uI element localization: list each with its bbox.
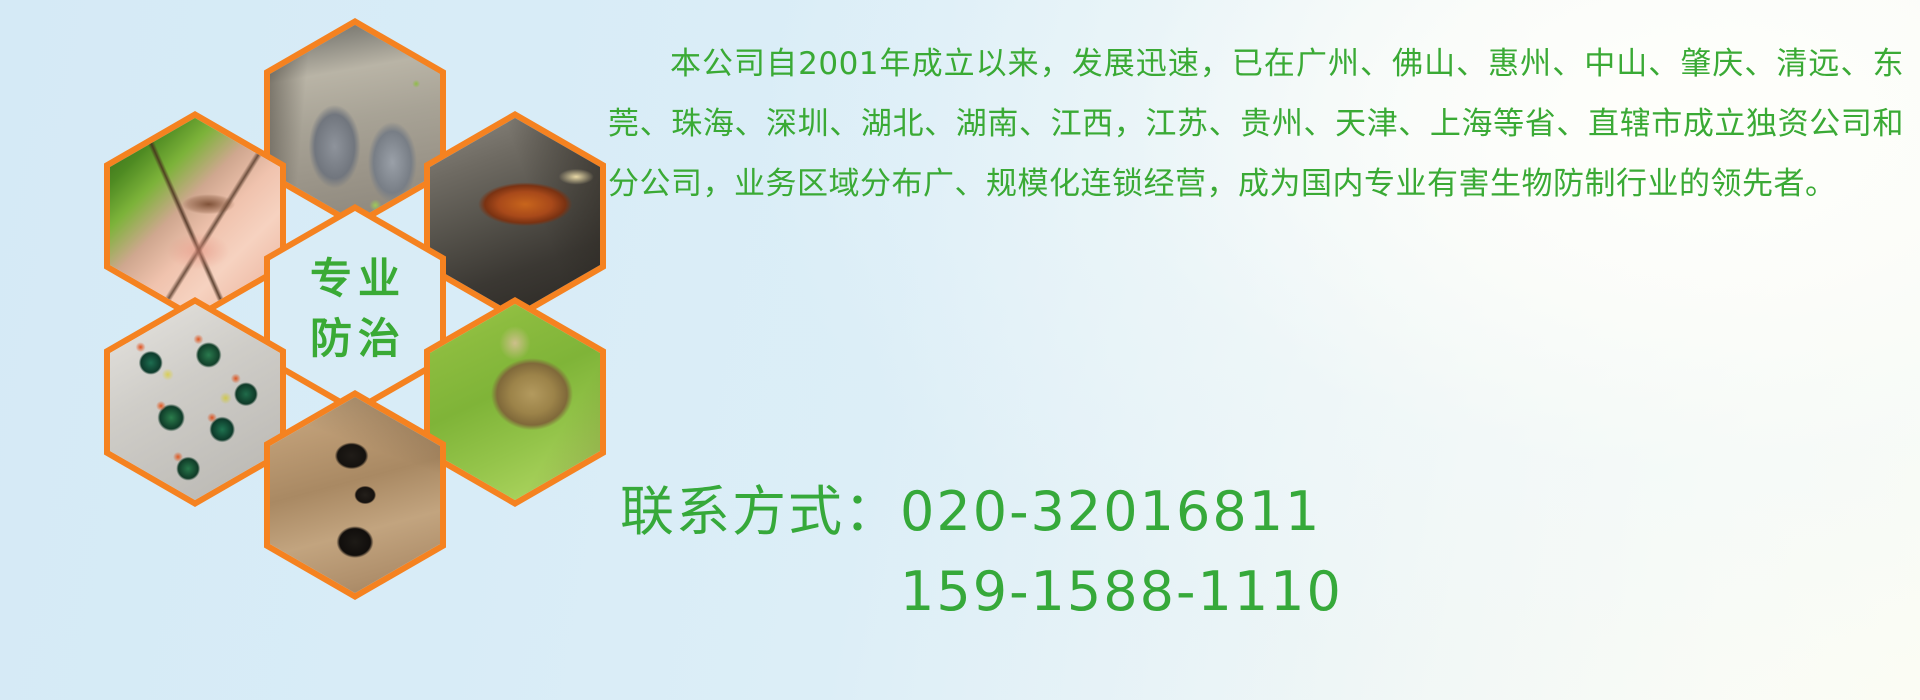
promo-banner: 专业 防治 本公司自2001年成立以来，发展迅速，已在广州、佛山、惠州、中山、肇… [0,0,1920,700]
stinkbug-photo [430,304,600,500]
ant-photo [270,397,440,593]
hex-inner-rats [270,25,440,221]
hex-inner-stinkbug [430,304,600,500]
rats-photo [270,25,440,221]
intro-paragraph: 本公司自2001年成立以来，发展迅速，已在广州、佛山、惠州、中山、肇庆、清远、东… [608,34,1904,214]
hex-cell-rats[interactable] [264,18,446,228]
hex-inner-cockroach [430,118,600,314]
honeycomb-photo-cluster: 专业 防治 [92,8,602,568]
hex-cell-mosquito[interactable] [104,111,286,321]
cockroach-photo [430,118,600,314]
contact-secondary-line[interactable]: 159-1588-1110 [608,552,1918,632]
mosquito-photo [110,118,280,314]
hex-inner-slogan: 专业 防治 [270,211,440,407]
contact-block: 联系方式：020-32016811 159-1588-1110 [608,472,1918,632]
contact-primary-line[interactable]: 联系方式：020-32016811 [608,472,1918,552]
slogan-line-1: 专业 [304,249,406,309]
hex-inner-flies [110,304,280,500]
copy-column: 本公司自2001年成立以来，发展迅速，已在广州、佛山、惠州、中山、肇庆、清远、东… [608,34,1908,214]
hex-inner-ant [270,397,440,593]
hex-cell-stinkbug[interactable] [424,297,606,507]
flies-photo [110,304,280,500]
hex-cell-slogan: 专业 防治 [264,204,446,414]
hex-cell-ant[interactable] [264,390,446,600]
slogan-line-2: 防治 [304,309,406,369]
hex-cell-cockroach[interactable] [424,111,606,321]
hex-inner-mosquito [110,118,280,314]
hex-cell-flies[interactable] [104,297,286,507]
